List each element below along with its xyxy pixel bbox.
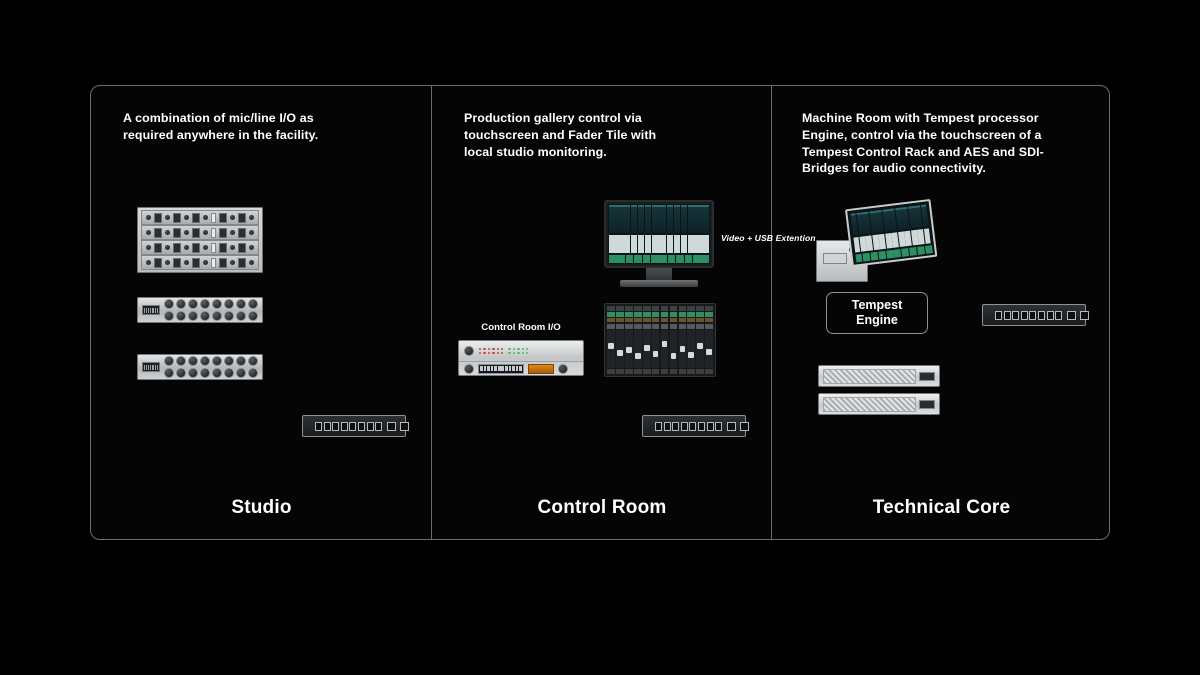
monitor-base <box>620 280 698 287</box>
io-unit-2 <box>137 354 263 380</box>
tempest-control-rack-touchscreen[interactable] <box>845 199 937 267</box>
control-room-io <box>458 340 584 376</box>
fader-bank[interactable] <box>607 330 713 368</box>
front-display <box>528 364 554 374</box>
tempest-engine: Tempest Engine <box>826 292 928 334</box>
zone-studio-title: Studio <box>91 497 432 519</box>
zone-technical-core-title: Technical Core <box>772 497 1111 519</box>
control-room-io-label: Control Room I/O <box>458 322 584 333</box>
preamp-row <box>141 240 259 255</box>
network-port <box>919 400 935 409</box>
network-switch-studio <box>302 415 406 437</box>
status-leds <box>508 348 528 355</box>
preamp-row <box>141 210 259 225</box>
vent-grille <box>823 369 916 384</box>
mic-preamp-rack <box>137 207 263 273</box>
io-unit-1 <box>137 297 263 323</box>
zone-control-room-description: Production gallery control via touchscre… <box>464 110 679 160</box>
preamp-row <box>141 255 259 270</box>
preamp-row <box>141 225 259 240</box>
tempest-engine-label-line2: Engine <box>856 313 898 327</box>
network-switch-control-room <box>642 415 746 437</box>
zone-control-room-title: Control Room <box>432 497 772 519</box>
network-switch-technical-core <box>982 304 1086 326</box>
touchscreen-monitor[interactable] <box>604 200 714 268</box>
zone-studio-description: A combination of mic/line I/O as require… <box>123 110 363 144</box>
db25-connector <box>478 364 524 374</box>
diagram-canvas: A combination of mic/line I/O as require… <box>0 0 1200 675</box>
zone-control-room: Production gallery control via touchscre… <box>432 86 772 541</box>
fader-tile[interactable] <box>604 303 716 377</box>
vent-grille <box>823 397 916 412</box>
mixer-ui <box>849 203 934 263</box>
tempest-engine-label-line1: Tempest <box>852 298 902 312</box>
level-meter <box>142 362 160 372</box>
mixer-ui <box>608 204 710 264</box>
aes-bridge <box>818 365 940 387</box>
network-port <box>919 372 935 381</box>
video-usb-extension-label: Video + USB Extention <box>721 233 816 243</box>
sdi-bridge <box>818 393 940 415</box>
level-meter <box>142 305 160 315</box>
zone-technical-core-description: Machine Room with Tempest processor Engi… <box>802 110 1050 177</box>
status-leds <box>479 348 503 355</box>
